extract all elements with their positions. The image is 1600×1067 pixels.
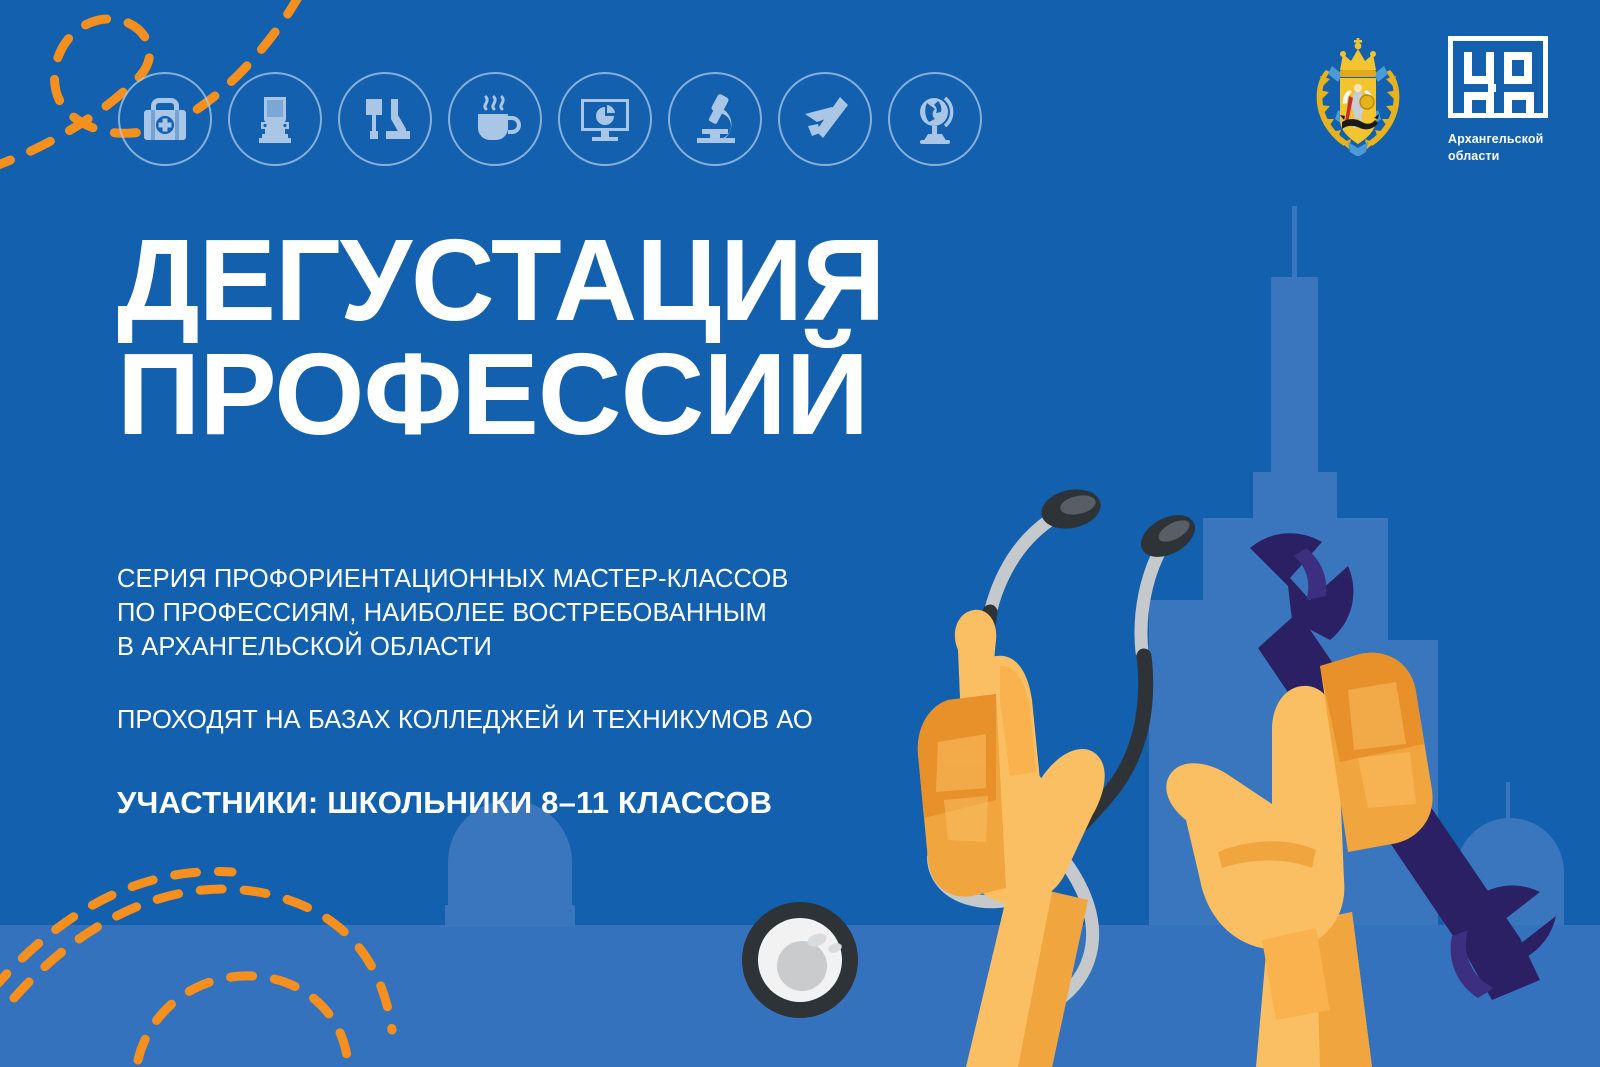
stethoscope-earpiece-right [1134, 506, 1202, 565]
stethoscope-chestpiece [742, 902, 858, 1018]
hands-with-stethoscope-and-wrench [0, 0, 1600, 1067]
poster: Архангельской области ДЕГУСТАЦИЯ ПРОФЕСС… [0, 0, 1600, 1067]
right-hand [1166, 653, 1432, 1067]
left-hand [918, 610, 1105, 1067]
